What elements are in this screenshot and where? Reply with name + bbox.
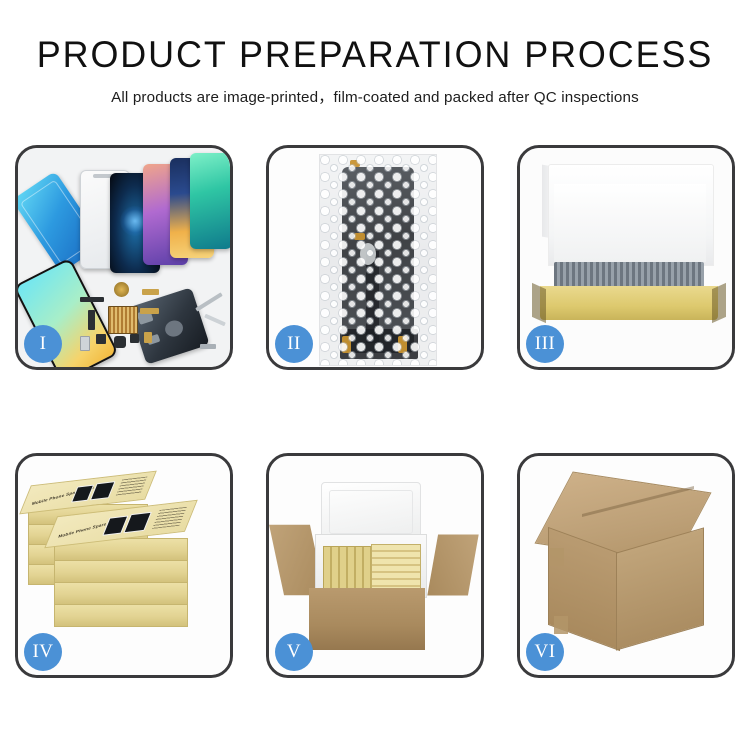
step-badge-4: IV bbox=[24, 633, 62, 671]
step-badge-3: III bbox=[526, 325, 564, 363]
spare-part-tool-tweezers bbox=[204, 314, 226, 327]
page-title: PRODUCT PREPARATION PROCESS bbox=[11, 36, 739, 75]
step-panel-6: VI bbox=[517, 453, 735, 678]
process-steps-grid: I II bbox=[15, 145, 735, 678]
carton-flap-right bbox=[427, 534, 478, 595]
phone-green-display bbox=[190, 153, 230, 249]
step-panel-4: Mobile Phone Spare Parts Mobile Phone Sp… bbox=[15, 453, 233, 678]
carton-body bbox=[309, 588, 425, 650]
step-badge-6: VI bbox=[526, 633, 564, 671]
inner-box-foam-sheet bbox=[554, 184, 706, 262]
page-subtitle: All products are image-printed，film-coat… bbox=[0, 85, 750, 107]
foam-box-lid bbox=[321, 482, 421, 542]
spare-part-flex-connector-1 bbox=[142, 289, 159, 295]
spare-part-chip-array bbox=[108, 306, 138, 334]
spare-part-button bbox=[80, 336, 90, 351]
retail-box-label-text-block-rear bbox=[115, 476, 147, 496]
spare-part-bracket-1 bbox=[96, 334, 106, 344]
packed-boxes-row-2 bbox=[371, 544, 421, 590]
inner-box-yellow-base bbox=[540, 286, 718, 320]
shipping-carton-tape-lower bbox=[554, 616, 568, 634]
spare-part-screws bbox=[200, 344, 216, 349]
phone-back-housing bbox=[128, 287, 209, 364]
retail-box-front-4 bbox=[54, 582, 188, 605]
retail-box-front-3 bbox=[54, 560, 188, 583]
spare-part-bracket-2 bbox=[114, 336, 126, 348]
spare-part-speaker bbox=[114, 282, 129, 297]
step-badge-2: II bbox=[275, 325, 313, 363]
step-panel-3: III bbox=[517, 145, 735, 370]
step-panel-1: I bbox=[15, 145, 233, 370]
spare-part-strip bbox=[80, 297, 104, 302]
spare-part-tool-screwdriver bbox=[195, 292, 223, 311]
bubble-wrap-bag bbox=[319, 154, 437, 366]
spare-part-flex-connector-2 bbox=[140, 308, 159, 314]
step-badge-1: I bbox=[24, 325, 62, 363]
retail-box-front-5 bbox=[54, 604, 188, 627]
header: PRODUCT PREPARATION PROCESS All products… bbox=[0, 0, 750, 107]
spare-part-flex-cable bbox=[88, 310, 95, 330]
step-panel-2: II bbox=[266, 145, 484, 370]
product-preparation-infographic: PRODUCT PREPARATION PROCESS All products… bbox=[0, 0, 750, 750]
spare-part-small-2 bbox=[144, 332, 152, 343]
step-panel-5: V bbox=[266, 453, 484, 678]
retail-box-label-text-block-front bbox=[152, 507, 187, 529]
bubble-texture bbox=[320, 155, 436, 365]
spare-part-small-1 bbox=[130, 334, 139, 343]
shipping-carton-tape-upper bbox=[550, 548, 564, 566]
step-badge-5: V bbox=[275, 633, 313, 671]
